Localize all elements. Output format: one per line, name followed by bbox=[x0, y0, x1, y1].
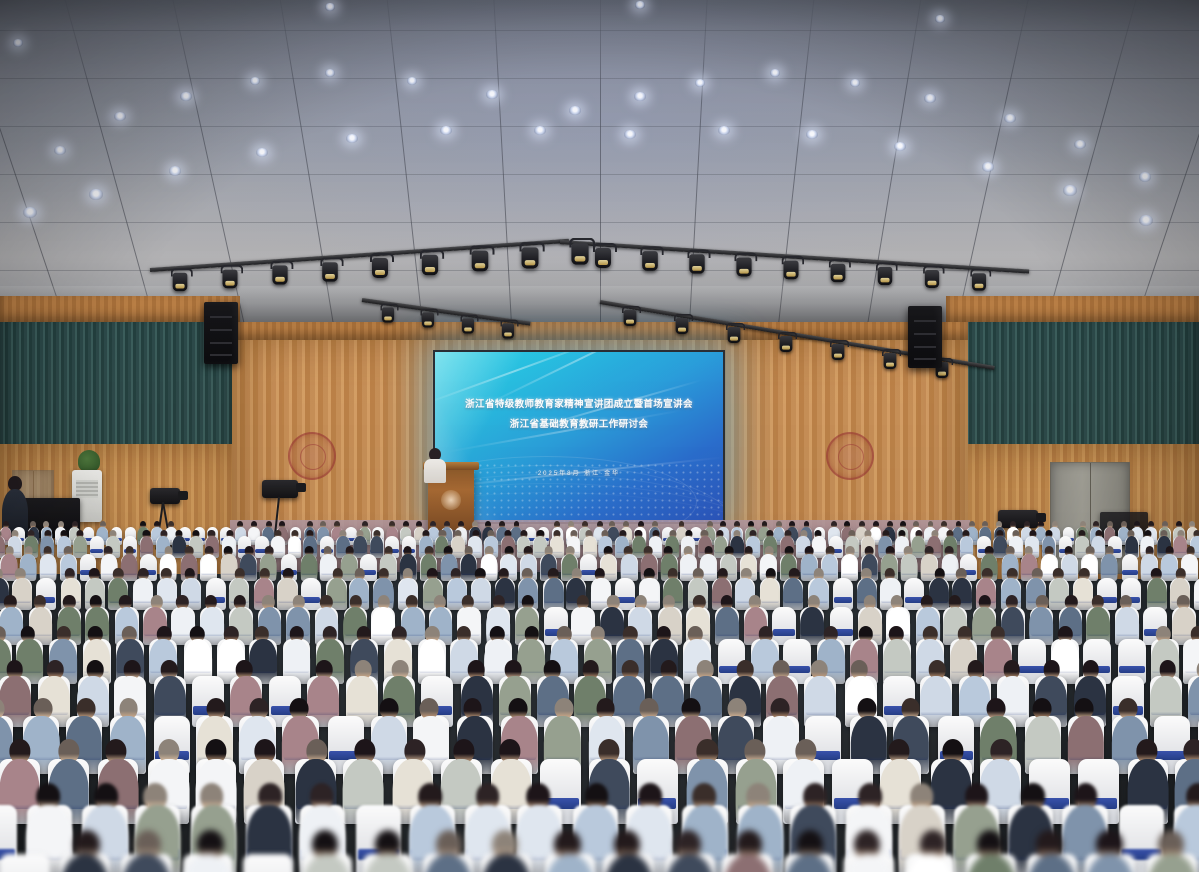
auditorium-photo: 浙江省特级教师教育家精神宣讲团成立暨首场宣讲会 浙江省基础教育教研工作研讨会 2… bbox=[0, 0, 1199, 872]
light-yoke bbox=[420, 250, 444, 259]
audience-seating bbox=[0, 520, 1199, 872]
audience-torso bbox=[1147, 854, 1197, 872]
light-yoke bbox=[687, 250, 710, 259]
audience-member bbox=[1146, 565, 1168, 610]
audience-member bbox=[900, 544, 918, 581]
ceiling-downlight bbox=[407, 77, 418, 85]
ceiling-seam bbox=[0, 0, 85, 330]
ceiling-downlight bbox=[1139, 172, 1152, 182]
presenter-at-podium bbox=[424, 448, 446, 482]
light-yoke bbox=[726, 323, 745, 330]
audience-torso bbox=[722, 854, 772, 872]
light-yoke bbox=[569, 238, 595, 248]
stage-par-light bbox=[173, 273, 188, 291]
stage-par-light bbox=[472, 251, 489, 272]
chair[interactable] bbox=[243, 854, 293, 872]
ceiling-downlight bbox=[1074, 140, 1086, 149]
light-yoke bbox=[674, 314, 693, 321]
light-yoke bbox=[778, 332, 797, 339]
ceiling-downlight bbox=[624, 130, 636, 139]
light-yoke bbox=[593, 243, 617, 252]
light-yoke bbox=[882, 349, 901, 356]
light-yoke bbox=[829, 259, 851, 267]
stage-par-light bbox=[878, 267, 893, 285]
ceiling-seam bbox=[600, 0, 601, 330]
ceiling-seam bbox=[491, 0, 515, 330]
stage-par-light bbox=[222, 270, 237, 289]
audience-member bbox=[200, 544, 218, 581]
stage-par-light bbox=[676, 318, 689, 334]
audience-torso bbox=[301, 554, 318, 581]
stage-wall-trim bbox=[232, 322, 968, 340]
stage-par-light bbox=[502, 324, 514, 339]
led-screen: 浙江省特级教师教育家精神宣讲团成立暨首场宣讲会 浙江省基础教育教研工作研讨会 2… bbox=[433, 350, 725, 524]
curtain-right bbox=[948, 300, 1199, 450]
ceiling-seam-h bbox=[0, 222, 1199, 223]
ceiling-downlight bbox=[23, 207, 37, 218]
audience-torso bbox=[901, 554, 918, 581]
audience-member bbox=[903, 822, 957, 872]
chair[interactable] bbox=[1122, 554, 1139, 581]
ceiling-downlight bbox=[695, 79, 706, 87]
audience-torso bbox=[784, 854, 834, 872]
stage-par-light bbox=[884, 353, 897, 369]
ceiling-seam-h bbox=[0, 126, 1199, 127]
stage-par-light bbox=[422, 313, 434, 328]
ceiling-downlight bbox=[569, 106, 580, 115]
chair[interactable] bbox=[833, 578, 853, 610]
audience-torso bbox=[423, 854, 473, 872]
light-yoke bbox=[830, 340, 849, 347]
audience-torso bbox=[183, 854, 233, 872]
audience-torso bbox=[481, 854, 531, 872]
ceiling-downlight bbox=[770, 69, 781, 77]
wood-trim-right bbox=[946, 296, 1199, 322]
audience-member bbox=[663, 822, 717, 872]
ceiling-seam bbox=[858, 0, 927, 330]
light-yoke bbox=[734, 253, 757, 262]
ceiling-downlight bbox=[256, 148, 268, 158]
audience-member bbox=[1025, 822, 1079, 872]
ceiling-downlight bbox=[1004, 114, 1016, 123]
curtain-left bbox=[0, 300, 236, 450]
audience-torso bbox=[1027, 854, 1077, 872]
audience-torso bbox=[543, 578, 563, 610]
stage-par-light bbox=[972, 273, 986, 291]
school-crest-left-icon bbox=[288, 432, 336, 480]
audience-torso bbox=[40, 554, 57, 581]
light-yoke bbox=[640, 246, 664, 255]
audience-member bbox=[1085, 591, 1111, 644]
chair-sash bbox=[1122, 570, 1137, 574]
potted-plant bbox=[78, 450, 100, 472]
light-yoke bbox=[622, 306, 641, 313]
light-yoke bbox=[380, 303, 398, 310]
ceiling-downlight bbox=[894, 142, 906, 151]
audience-member bbox=[417, 621, 447, 683]
stage-par-light bbox=[522, 247, 539, 268]
audience-torso bbox=[60, 854, 110, 872]
light-yoke bbox=[420, 309, 438, 316]
light-yoke bbox=[320, 257, 344, 266]
audience-torso bbox=[1147, 578, 1167, 610]
light-yoke bbox=[782, 256, 805, 264]
audience-torso bbox=[966, 854, 1016, 872]
audience-member bbox=[300, 544, 318, 581]
ceiling-downlight bbox=[54, 146, 66, 156]
ceiling-downlight bbox=[325, 69, 336, 77]
video-camera-stage-left bbox=[262, 480, 298, 498]
ceiling-downlight bbox=[924, 94, 935, 103]
light-yoke bbox=[221, 265, 244, 273]
ceiling-downlight bbox=[250, 77, 261, 85]
audience-torso bbox=[844, 854, 894, 872]
ceiling-downlight bbox=[486, 90, 497, 99]
stage-par-light bbox=[642, 251, 658, 271]
ceiling-downlight bbox=[635, 1, 644, 8]
audience-member bbox=[1114, 591, 1140, 644]
ceiling-seam-h bbox=[0, 174, 1199, 175]
audience-torso bbox=[603, 854, 653, 872]
ceiling-seam-h bbox=[0, 30, 1199, 31]
ceiling-downlight bbox=[13, 39, 23, 47]
line-array-speaker-left bbox=[204, 302, 238, 364]
stage-par-light bbox=[780, 336, 793, 352]
stage-par-light bbox=[624, 310, 637, 326]
audience-member bbox=[58, 822, 112, 872]
audience-torso bbox=[545, 854, 595, 872]
ceiling-downlight bbox=[180, 92, 191, 101]
ceiling-downlight bbox=[169, 166, 182, 176]
ceiling-downlight bbox=[534, 126, 546, 135]
audience-member bbox=[782, 822, 836, 872]
stage-par-light bbox=[322, 262, 338, 282]
light-yoke bbox=[923, 265, 944, 273]
stage-par-light bbox=[831, 264, 846, 283]
light-yoke bbox=[519, 242, 544, 252]
audience-member bbox=[421, 822, 475, 872]
audience-member bbox=[181, 822, 235, 872]
audience-member bbox=[964, 822, 1018, 872]
ceiling-downlight bbox=[325, 3, 334, 10]
ceiling-seam-h bbox=[0, 78, 1199, 79]
school-crest-right-icon bbox=[826, 432, 874, 480]
stage-par-light bbox=[783, 261, 798, 280]
light-yoke bbox=[370, 253, 394, 262]
ceiling-seam bbox=[772, 0, 818, 330]
audience-member bbox=[1083, 822, 1137, 872]
presenter-body bbox=[424, 459, 446, 483]
chair-sash bbox=[1119, 666, 1145, 673]
ceiling-seam bbox=[1116, 0, 1199, 330]
light-yoke bbox=[270, 261, 293, 270]
video-camera-left bbox=[150, 488, 180, 504]
ceiling-downlight bbox=[440, 126, 452, 135]
chair[interactable] bbox=[0, 854, 50, 872]
stage-par-light bbox=[595, 248, 611, 268]
stage-par-light bbox=[925, 270, 939, 288]
ceiling-downlight bbox=[634, 92, 645, 101]
audience-torso bbox=[665, 854, 715, 872]
audience-torso bbox=[1101, 554, 1118, 581]
stage-par-light bbox=[832, 344, 845, 360]
ceiling-downlight bbox=[1063, 185, 1076, 195]
audience-member bbox=[183, 621, 213, 683]
ceiling-downlight bbox=[982, 162, 995, 172]
ceiling-seam bbox=[383, 0, 429, 330]
stage-par-light bbox=[272, 266, 287, 285]
ceiling-downlight bbox=[806, 130, 818, 139]
audience-member bbox=[842, 822, 896, 872]
ceiling-downlight bbox=[346, 134, 358, 143]
audience-member bbox=[543, 822, 597, 872]
ceiling-downlight bbox=[1139, 215, 1153, 226]
ceiling-downlight bbox=[850, 79, 861, 87]
audience-member bbox=[882, 621, 912, 683]
audience-member bbox=[1145, 822, 1199, 872]
audience-member bbox=[1100, 544, 1118, 581]
audience-torso bbox=[121, 854, 171, 872]
audience-torso bbox=[302, 854, 352, 872]
ceiling-downlight bbox=[89, 189, 102, 199]
audience-member bbox=[119, 822, 173, 872]
audience-member bbox=[39, 544, 57, 581]
audience-member bbox=[479, 822, 533, 872]
ceiling-downlight bbox=[718, 126, 730, 135]
ceiling-downlight bbox=[114, 112, 126, 121]
stage-par-light bbox=[462, 318, 474, 333]
audience-torso bbox=[363, 854, 413, 872]
chair-sash bbox=[834, 597, 852, 602]
light-yoke bbox=[171, 269, 193, 277]
ceiling-seam bbox=[686, 0, 710, 330]
light-yoke bbox=[500, 320, 518, 327]
audience-member bbox=[300, 822, 354, 872]
stage-par-light bbox=[382, 307, 394, 322]
ceiling-seam bbox=[1030, 0, 1143, 330]
light-yoke bbox=[470, 246, 495, 255]
ceiling-downlight bbox=[935, 15, 944, 22]
audience-torso bbox=[200, 554, 217, 581]
audience-member bbox=[714, 591, 740, 644]
light-yoke bbox=[970, 269, 991, 277]
stage-par-light bbox=[728, 327, 741, 343]
audience-torso bbox=[905, 854, 955, 872]
light-yoke bbox=[460, 314, 478, 321]
stage-par-light bbox=[689, 254, 705, 273]
stage-par-light bbox=[736, 258, 751, 277]
audience-torso bbox=[621, 554, 638, 581]
audience-member bbox=[543, 565, 565, 610]
line-array-speaker-right bbox=[908, 306, 942, 368]
light-yoke bbox=[876, 262, 898, 270]
audience-member bbox=[720, 822, 774, 872]
audience-member bbox=[601, 822, 655, 872]
audience-member bbox=[620, 544, 638, 581]
ceiling-seam bbox=[58, 0, 171, 330]
stage-par-light bbox=[571, 244, 588, 266]
stage-par-light bbox=[422, 255, 438, 275]
audience-member bbox=[361, 822, 415, 872]
audience-torso bbox=[1085, 854, 1135, 872]
stage-par-light bbox=[372, 258, 388, 278]
